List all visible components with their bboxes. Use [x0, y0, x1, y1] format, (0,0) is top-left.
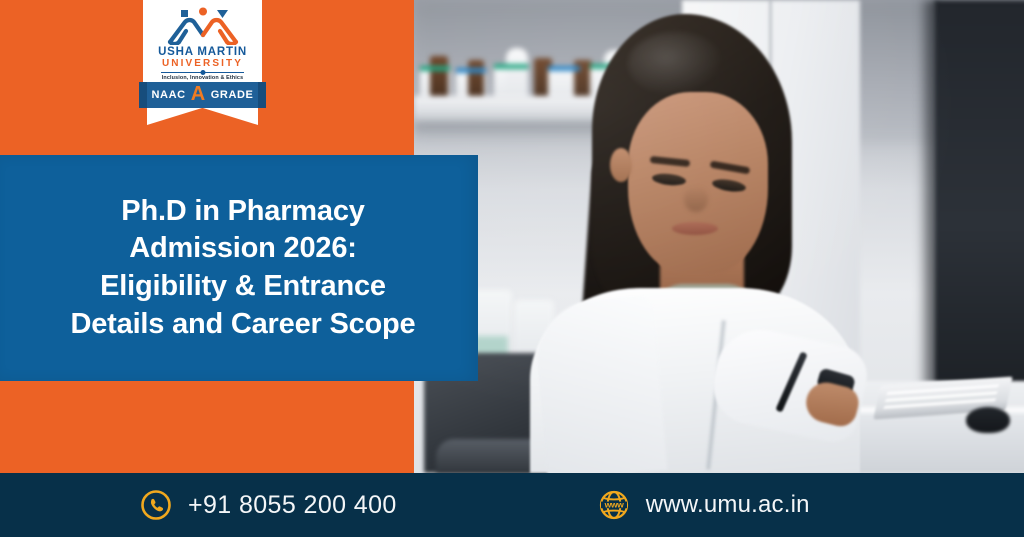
contact-footer: +91 8055 200 400 www www.umu.ac.in — [0, 473, 1024, 537]
lab-researcher-photo — [414, 0, 1024, 473]
logo-tagline: Inclusion, Innovation & Ethics — [143, 75, 262, 81]
svg-text:www: www — [603, 499, 624, 509]
page-title: Ph.D in Pharmacy Admission 2026: Eligibi… — [49, 193, 430, 344]
photo-hair-highlight — [628, 32, 724, 96]
logo-university-word: UNIVERSITY — [143, 58, 262, 69]
naac-prefix: NAAC — [152, 89, 186, 101]
naac-ribbon-tail — [147, 108, 258, 125]
photo-nose — [684, 186, 708, 212]
phone-icon — [140, 489, 172, 521]
footer-website[interactable]: www www.umu.ac.in — [598, 489, 810, 521]
footer-phone[interactable]: +91 8055 200 400 — [140, 489, 397, 521]
photo-ear — [610, 148, 632, 182]
logo-university-name: USHA MARTIN — [143, 46, 262, 58]
naac-ribbon-right-fold — [258, 82, 266, 108]
logo-divider-dot — [200, 70, 205, 75]
globe-www-icon: www — [598, 489, 630, 521]
naac-suffix: GRADE — [211, 89, 254, 101]
website-url: www.umu.ac.in — [646, 491, 810, 519]
naac-ribbon-left-fold — [139, 82, 147, 108]
usha-martin-mark-icon — [160, 7, 246, 45]
naac-grade-letter: A — [191, 84, 206, 104]
hero-title-panel: Ph.D in Pharmacy Admission 2026: Eligibi… — [0, 155, 478, 381]
photo-mouse — [966, 407, 1010, 433]
naac-grade-badge: NAAC A GRADE — [147, 82, 258, 108]
phone-number: +91 8055 200 400 — [188, 491, 397, 520]
photo-lab-coat-lapel — [533, 295, 668, 473]
photo-face — [628, 92, 768, 274]
promotional-banner: USHA MARTIN UNIVERSITY Inclusion, Innova… — [0, 0, 1024, 537]
photo-monitor — [934, 0, 1024, 408]
photo-lips — [672, 222, 718, 235]
